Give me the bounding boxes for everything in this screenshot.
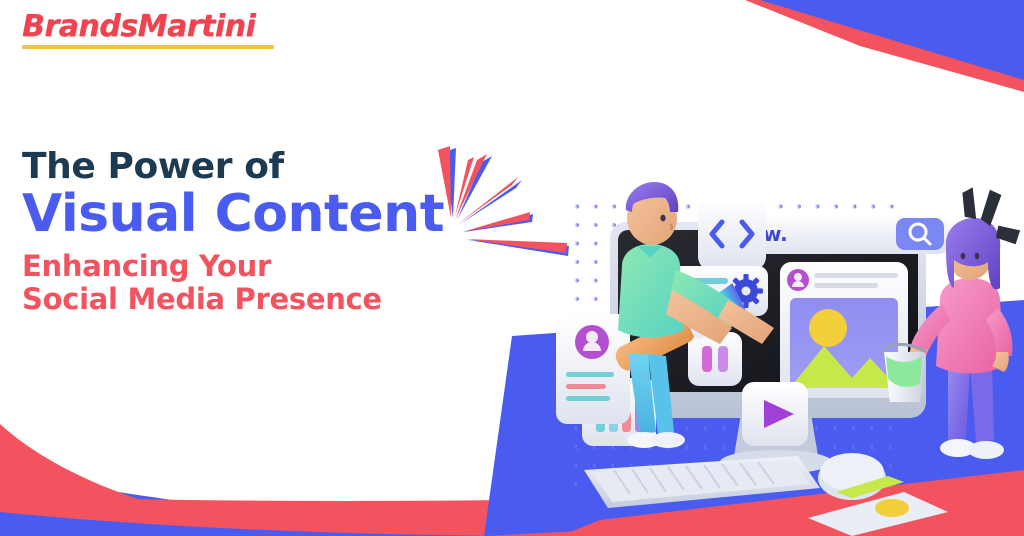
code-card bbox=[698, 198, 766, 270]
hero-illustration: www. bbox=[552, 140, 1024, 536]
brand-logo-underline bbox=[22, 45, 274, 49]
profile-card bbox=[556, 314, 630, 424]
play-card bbox=[742, 382, 808, 446]
burst-rays bbox=[438, 146, 569, 256]
brand-logo[interactable]: BrandsMartini bbox=[22, 12, 274, 49]
paint-bucket bbox=[884, 344, 926, 402]
brand-logo-text: BrandsMartini bbox=[22, 12, 274, 42]
marketing-banner: BrandsMartini The Power of Visual Conten… bbox=[0, 0, 1024, 536]
keyboard bbox=[584, 456, 820, 508]
accent-dash-decoration bbox=[958, 186, 1024, 256]
image-placeholder-icon bbox=[790, 298, 898, 388]
